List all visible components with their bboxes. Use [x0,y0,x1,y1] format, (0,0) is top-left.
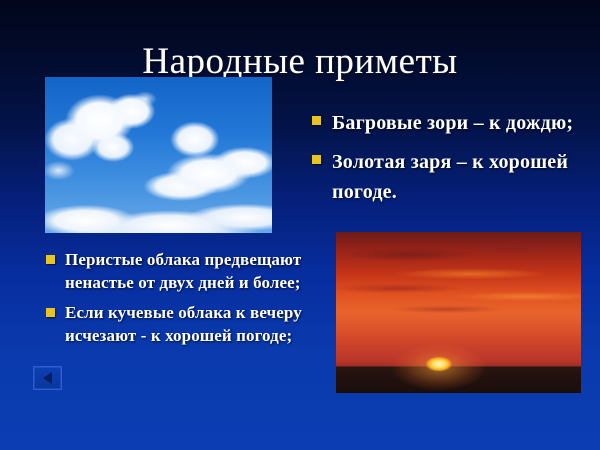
previous-slide-button[interactable] [33,366,62,390]
bullet-list-right: Багровые зори – к дождю; Золотая заря – … [312,108,574,216]
bullet-list-left: Перистые облака предвещают ненастье от д… [46,248,346,354]
list-item: Багровые зори – к дождю; [312,108,574,138]
square-bullet-icon [312,116,321,125]
list-item-label: Багровые зори – к дождю; [332,108,573,138]
list-item-label: Перистые облака предвещают ненастье от д… [65,248,346,294]
list-item-label: Золотая заря – к хорошей погоде. [332,147,574,207]
square-bullet-icon [312,155,321,164]
list-item: Перистые облака предвещают ненастье от д… [46,248,346,294]
presentation-slide: Народные приметы Багровые зори – к дождю… [0,0,600,450]
list-item: Золотая заря – к хорошей погоде. [312,147,574,207]
triangle-left-icon [43,372,52,384]
list-item: Если кучевые облака к вечеру исчезают - … [46,301,346,347]
clouds-photo [45,77,272,233]
list-item-label: Если кучевые облака к вечеру исчезают - … [65,301,346,347]
sunset-photo [336,232,581,393]
square-bullet-icon [46,308,55,317]
square-bullet-icon [46,255,55,264]
